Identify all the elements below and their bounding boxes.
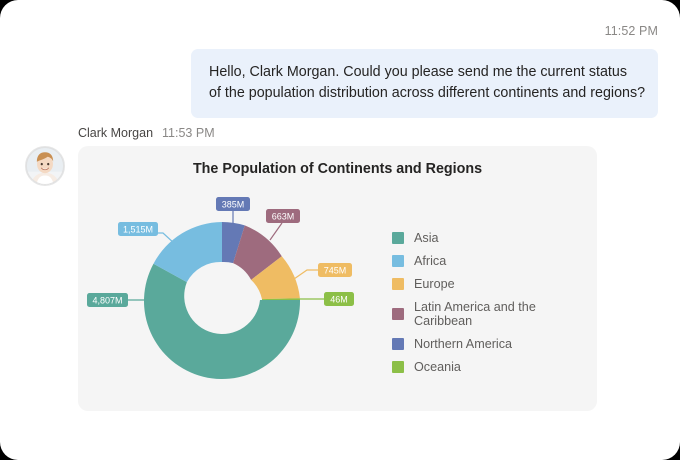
leader-line-latin-america xyxy=(270,223,282,240)
legend-label-europe: Europe xyxy=(414,277,455,291)
legend-item-northern-america[interactable]: Northern America xyxy=(392,337,597,351)
data-label-europe-text: 745M xyxy=(324,266,347,276)
chart-card: The Population of Continents and Regions xyxy=(78,146,597,411)
donut-chart[interactable]: 1,515M 385M 663M xyxy=(78,178,418,410)
data-label-northern-america-text: 385M xyxy=(222,200,245,210)
legend-swatch-oceania xyxy=(392,361,404,373)
legend-swatch-northern-america xyxy=(392,338,404,350)
donut-chart-svg: 1,515M 385M 663M xyxy=(78,178,418,410)
legend-label-latin-america: Latin America and the Caribbean xyxy=(414,300,597,328)
data-label-oceania[interactable]: 46M xyxy=(324,292,354,306)
chart-title: The Population of Continents and Regions xyxy=(78,161,597,177)
avatar[interactable] xyxy=(25,146,65,186)
legend-label-asia: Asia xyxy=(414,231,439,245)
chart-legend: Asia Africa Europe Latin America and the… xyxy=(392,231,597,374)
data-label-asia[interactable]: 4,807M xyxy=(87,293,128,307)
sender-message-timestamp: 11:53 PM xyxy=(162,126,215,140)
legend-swatch-europe xyxy=(392,278,404,290)
incoming-message-bubble[interactable]: Hello, Clark Morgan. Could you please se… xyxy=(191,49,658,118)
incoming-message-line-1: Hello, Clark Morgan. Could you please se… xyxy=(209,62,640,83)
incoming-message-timestamp: 11:52 PM xyxy=(605,24,658,38)
legend-label-oceania: Oceania xyxy=(414,360,461,374)
legend-item-europe[interactable]: Europe xyxy=(392,277,597,291)
donut-slices xyxy=(144,222,300,379)
app-window: 11:52 PM Hello, Clark Morgan. Could you … xyxy=(0,0,680,460)
sender-name[interactable]: Clark Morgan xyxy=(78,126,153,140)
legend-label-africa: Africa xyxy=(414,254,446,268)
data-label-northern-america[interactable]: 385M xyxy=(216,197,250,211)
avatar-photo xyxy=(26,147,64,185)
legend-swatch-africa xyxy=(392,255,404,267)
legend-item-latin-america[interactable]: Latin America and the Caribbean xyxy=(392,300,597,328)
legend-swatch-asia xyxy=(392,232,404,244)
sender-info-row: Clark Morgan 11:53 PM xyxy=(78,126,215,140)
data-label-latin-america-text: 663M xyxy=(272,212,295,222)
data-label-oceania-text: 46M xyxy=(330,295,348,305)
leader-line-europe xyxy=(294,270,319,279)
legend-swatch-latin-america xyxy=(392,308,404,320)
legend-label-northern-america: Northern America xyxy=(414,337,512,351)
data-label-latin-america[interactable]: 663M xyxy=(266,209,300,223)
data-label-africa-text: 1,515M xyxy=(123,225,153,235)
legend-item-asia[interactable]: Asia xyxy=(392,231,597,245)
data-label-europe[interactable]: 745M xyxy=(318,263,352,277)
data-label-asia-text: 4,807M xyxy=(92,296,122,306)
legend-item-africa[interactable]: Africa xyxy=(392,254,597,268)
data-label-africa[interactable]: 1,515M xyxy=(118,222,158,236)
legend-item-oceania[interactable]: Oceania xyxy=(392,360,597,374)
incoming-message-line-2: of the population distribution across di… xyxy=(209,83,640,104)
